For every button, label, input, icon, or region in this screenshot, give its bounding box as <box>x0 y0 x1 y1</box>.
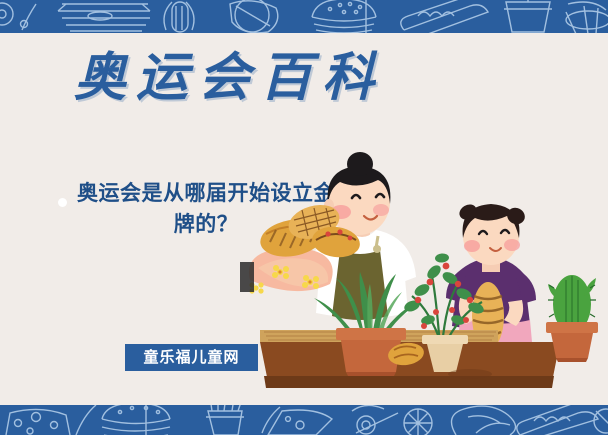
food-line-art-pattern-icon <box>0 405 608 435</box>
poster: 奥运会百科 奥运会是从哪届开始设立金牌的？ <box>0 0 608 435</box>
site-brand-label: 童乐福儿童网 <box>143 350 239 365</box>
food-line-art-pattern-icon <box>0 0 608 33</box>
top-decorative-band <box>0 0 608 33</box>
girl-figure <box>446 201 536 350</box>
illustration-artwork-icon <box>236 150 608 405</box>
site-brand-badge[interactable]: 童乐福儿童网 <box>125 344 258 371</box>
page-title: 奥运会百科 <box>74 48 384 108</box>
bakery-scene-illustration <box>236 150 608 405</box>
bottom-decorative-band <box>0 405 608 435</box>
bullet-dot-icon <box>58 198 67 207</box>
